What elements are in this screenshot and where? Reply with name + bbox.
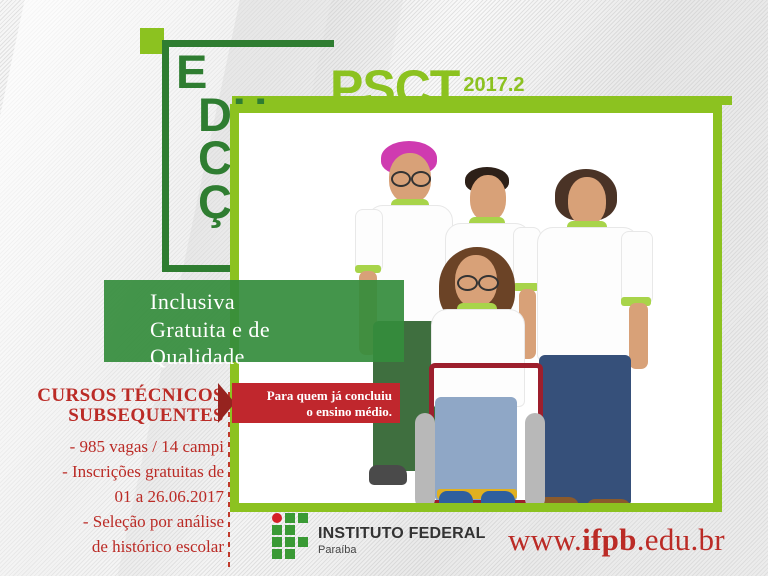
offer-bullet-dates: 01 a 26.06.2017 <box>24 485 224 510</box>
callout-line-2: o ensino médio. <box>267 404 392 420</box>
institution-line-2: Paraíba <box>318 545 486 556</box>
website-brand: ifpb <box>582 522 637 557</box>
callout-banner: Para quem já concluiu o ensino médio. <box>232 383 400 423</box>
student-wheelchair-shoe-left <box>439 491 473 512</box>
offer-bullet-inscricoes: - Inscrições gratuitas de <box>24 460 224 485</box>
offer-title-line-2: SUBSEQUENTES <box>24 406 224 426</box>
offer-bullet-historico: de histórico escolar <box>24 535 224 560</box>
offer-bullet-vagas: - 985 vagas / 14 campi <box>24 435 224 460</box>
offer-title-line-1: CURSOS TÉCNICOS <box>24 386 224 406</box>
wheelchair-wheel-left <box>415 413 435 509</box>
exam-year: 2017.2 <box>463 74 524 96</box>
wheelchair-wheel-right <box>525 413 545 509</box>
institution-line-1: INSTITUTO FEDERAL <box>318 526 486 542</box>
student-left-shoe <box>369 465 407 485</box>
student-wheelchair-glasses-right <box>478 275 499 291</box>
qualities-text: Inclusiva Gratuita e de Qualidade <box>150 288 270 371</box>
qualities-line-2: Gratuita e de <box>150 316 270 344</box>
student-center-back-head <box>470 175 506 221</box>
student-left-glasses-left <box>391 171 411 187</box>
student-wheelchair-shoe-right <box>481 491 515 512</box>
callout-text: Para quem já concluiu o ensino médio. <box>267 388 392 421</box>
offer-bullets: - 985 vagas / 14 campi - Inscrições grat… <box>24 435 224 559</box>
student-left-glasses-right <box>411 171 431 187</box>
offer-details: CURSOS TÉCNICOS SUBSEQUENTES - 985 vagas… <box>24 386 224 559</box>
student-right-shoe-right <box>587 499 631 512</box>
qualities-banner: Inclusiva Gratuita e de Qualidade <box>104 280 404 362</box>
student-right-head <box>568 177 606 225</box>
student-right-arm <box>629 303 648 369</box>
website-url[interactable]: www.ifpb.edu.br <box>508 522 725 558</box>
accent-square-top-left <box>140 28 164 54</box>
student-wheelchair-glasses-left <box>457 275 478 291</box>
student-left-sleeve <box>355 209 383 273</box>
offer-title: CURSOS TÉCNICOS SUBSEQUENTES <box>24 386 224 426</box>
website-suffix: .edu.br <box>637 522 725 557</box>
offer-bullet-selecao: - Seleção por análise <box>24 510 224 535</box>
student-right-sleeve <box>621 231 653 305</box>
ifpb-logo-icon <box>272 513 312 559</box>
institution-name: INSTITUTO FEDERAL Paraíba <box>318 526 486 556</box>
website-prefix: www. <box>508 522 582 557</box>
qualities-line-1: Inclusiva <box>150 288 270 316</box>
student-right-jeans <box>539 355 631 505</box>
callout-line-1: Para quem já concluiu <box>267 388 392 404</box>
poster-canvas: E DU CA ÇÃO PSCT2017.2 <box>0 0 768 576</box>
qualities-line-3: Qualidade <box>150 343 270 371</box>
headline-line-1: E <box>176 50 346 93</box>
